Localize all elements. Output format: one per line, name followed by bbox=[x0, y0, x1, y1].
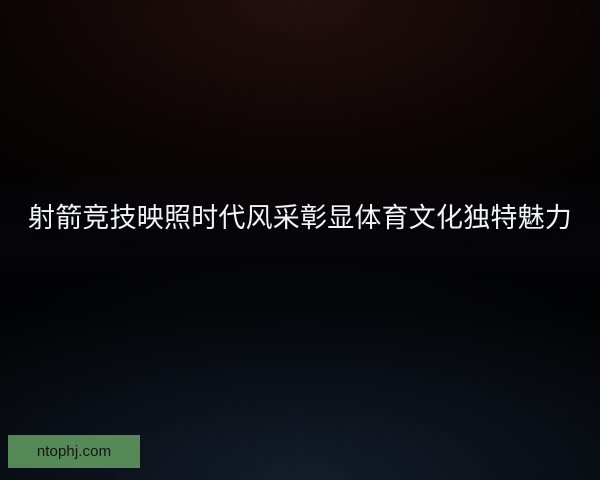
watermark-badge: ntophj.com bbox=[8, 435, 140, 468]
watermark-label: ntophj.com bbox=[37, 444, 111, 459]
background-gradient bbox=[0, 0, 600, 480]
banner-headline: 射箭竞技映照时代风采彰显体育文化独特魅力 bbox=[22, 198, 578, 239]
banner-image: 射箭竞技映照时代风采彰显体育文化独特魅力 ntophj.com bbox=[0, 0, 600, 480]
